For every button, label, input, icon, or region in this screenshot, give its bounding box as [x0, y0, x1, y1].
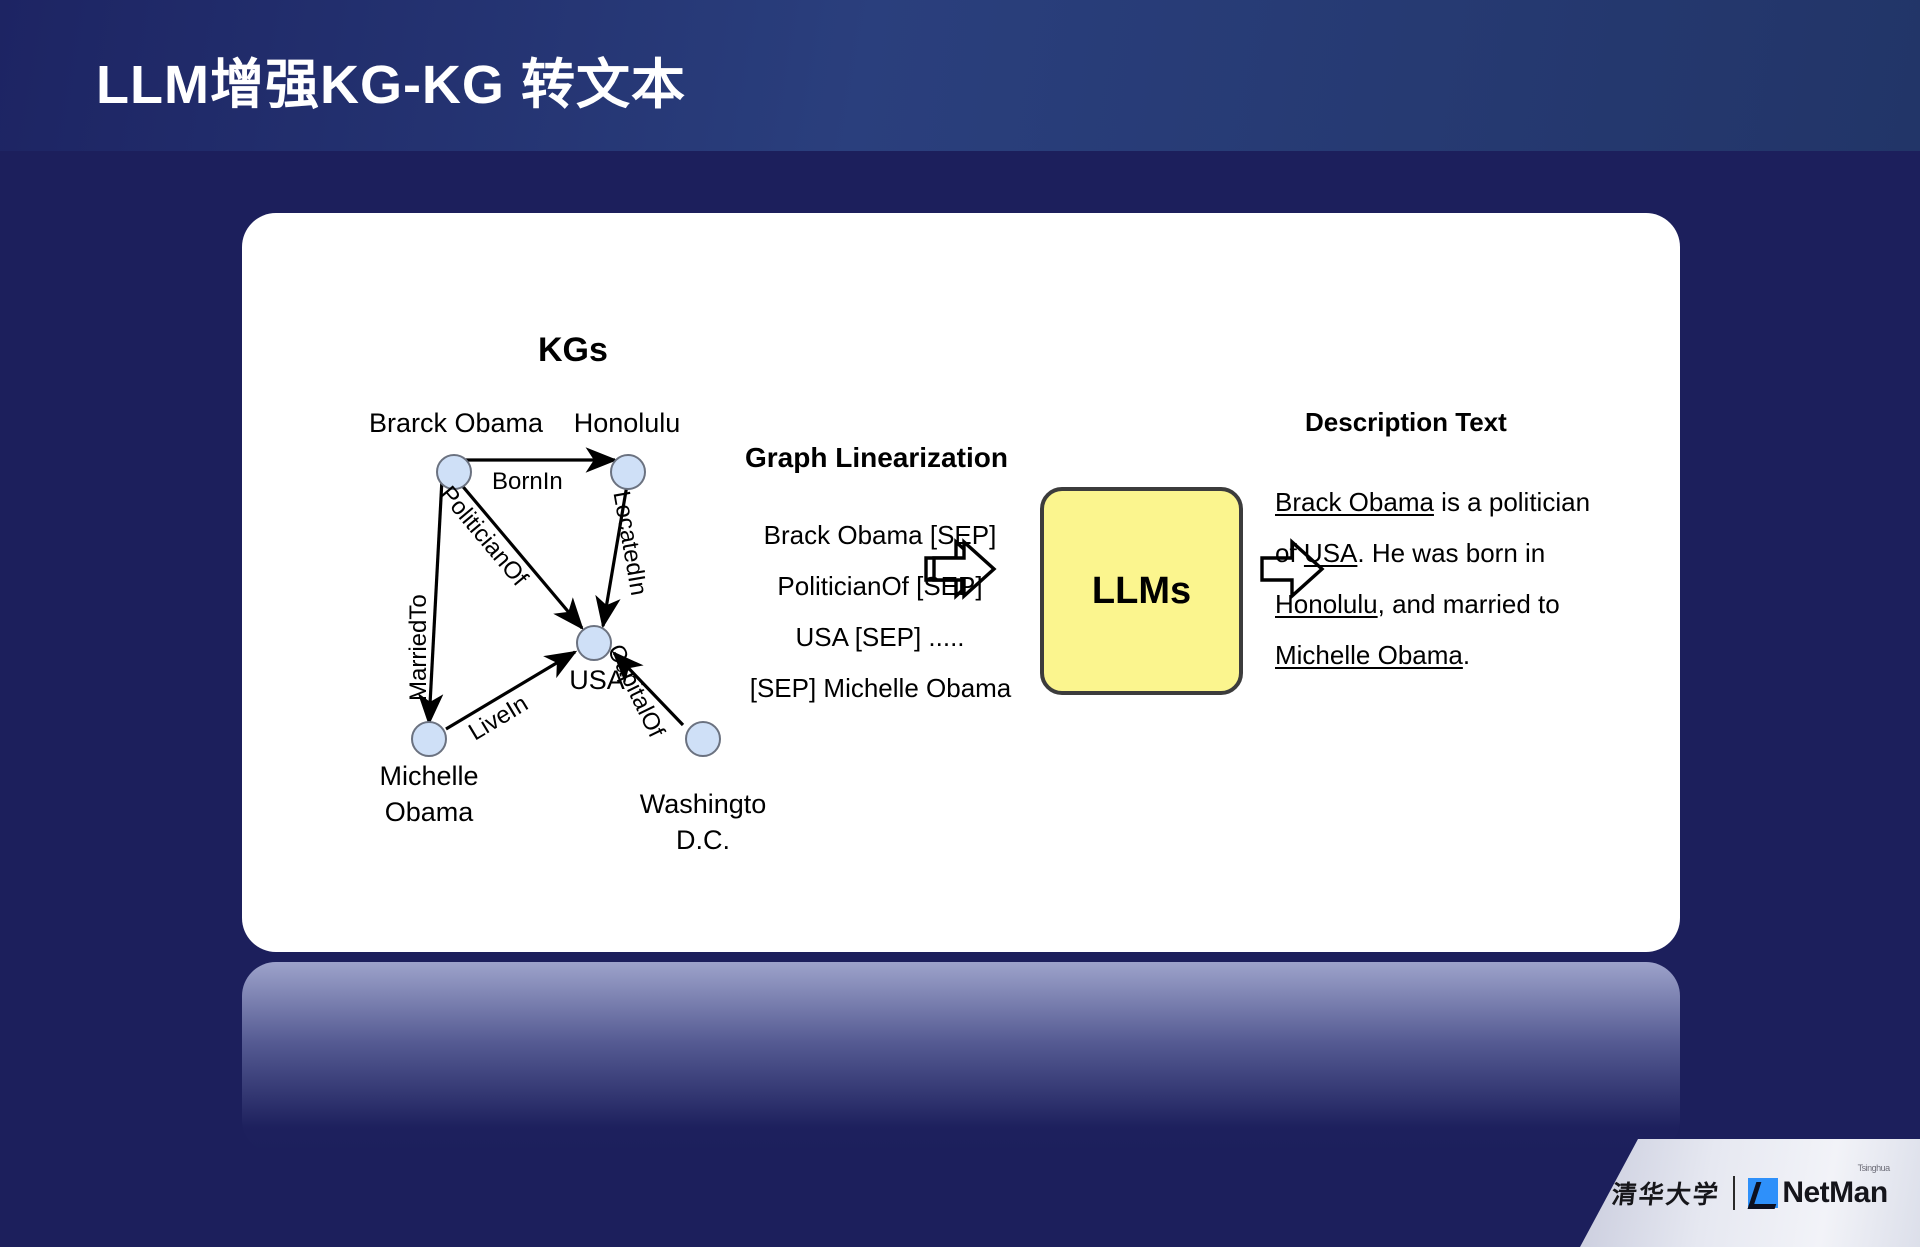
desc-seg-6: , and married to	[1378, 589, 1560, 619]
linearization-line-4: [SEP] Michelle Obama	[708, 673, 1053, 704]
node-label-honolulu: Honolulu	[542, 408, 712, 439]
description-text-body: Brack Obama is a politician of USA. He w…	[1275, 477, 1595, 681]
desc-entity-michelle-obama: Michelle Obama	[1275, 640, 1463, 670]
linearization-line-3: USA [SEP] .....	[715, 622, 1045, 653]
figure-card-reflection	[242, 962, 1680, 1154]
logo-divider	[1733, 1176, 1735, 1210]
llms-box-label: LLMs	[1092, 570, 1191, 613]
edge-politicianof	[454, 476, 582, 628]
llms-box[interactable]: LLMs	[1040, 487, 1243, 695]
tsinghua-university-logo: 清华大学	[1610, 1175, 1722, 1211]
linearization-line-2: PoliticianOf [SEP]	[715, 571, 1045, 602]
desc-entity-usa: USA	[1304, 538, 1357, 568]
footer-logo-bar: 清华大学 NetMan Tsinghua	[1580, 1139, 1920, 1247]
graph-node-honolulu[interactable]	[610, 454, 646, 490]
graph-node-washington-dc[interactable]	[685, 721, 721, 757]
desc-seg-8: .	[1463, 640, 1470, 670]
node-label-michelle-obama-line1: Michelle	[339, 761, 519, 792]
linearization-line-1: Brack Obama [SEP]	[715, 520, 1045, 551]
kgs-title: KGs	[538, 331, 608, 370]
node-label-washington-line1: Washingto	[613, 789, 793, 820]
description-text-title: Description Text	[1305, 407, 1507, 438]
desc-entity-honolulu: Honolulu	[1275, 589, 1378, 619]
node-label-washington-line2: D.C.	[613, 825, 793, 856]
desc-entity-brack-obama: Brack Obama	[1275, 487, 1434, 517]
node-label-michelle-obama-line2: Obama	[339, 797, 519, 828]
desc-seg-4: . He was born in	[1357, 538, 1545, 568]
edge-label-bornin: BornIn	[492, 468, 563, 496]
edge-label-marriedto: MarriedTo	[405, 594, 433, 701]
graph-linearization-title: Graph Linearization	[745, 442, 1008, 474]
page-title: LLM增强KG-KG 转文本	[96, 40, 686, 119]
netman-mark-icon	[1748, 1178, 1778, 1208]
netman-superscript: Tsinghua	[1858, 1163, 1890, 1173]
figure-card: KGs Graph Linearization Description Text…	[242, 213, 1680, 952]
netman-brand-text: NetMan	[1782, 1176, 1887, 1209]
netman-brand-label: NetMan Tsinghua	[1782, 1176, 1887, 1210]
graph-node-michelle-obama[interactable]	[411, 721, 447, 757]
